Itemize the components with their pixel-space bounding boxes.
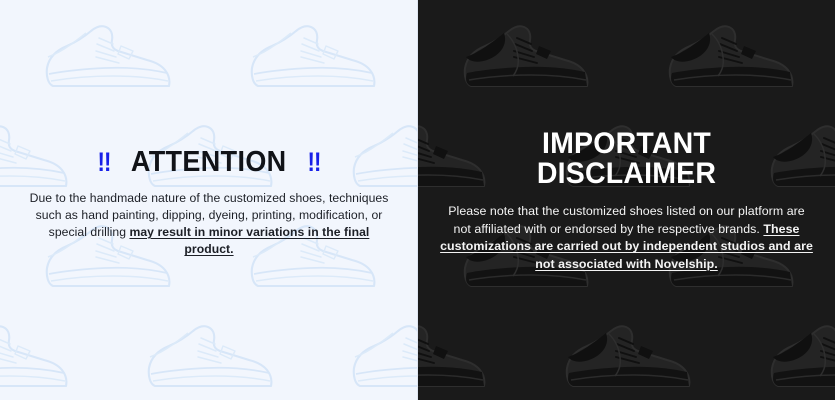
double-exclamation-right-icon: !! (307, 149, 320, 176)
disclaimer-heading-line1: IMPORTANT (449, 129, 803, 160)
disclaimer-panel: IMPORTANT DISCLAIMER Please note that th… (418, 0, 835, 400)
panel-divider (417, 0, 418, 400)
attention-body-emphasis: may result in minor variations in the fi… (129, 225, 369, 256)
attention-title: ATTENTION (131, 148, 287, 177)
disclaimer-heading-line2: DISCLAIMER (449, 159, 803, 190)
double-exclamation-left-icon: !! (98, 149, 111, 176)
attention-panel: !! ATTENTION !! Due to the handmade natu… (0, 0, 418, 400)
attention-heading: !! ATTENTION !! (28, 148, 390, 177)
attention-content: !! ATTENTION !! Due to the handmade natu… (0, 148, 418, 259)
attention-body: Due to the handmade nature of the custom… (28, 190, 390, 259)
disclaimer-body: Please note that the customized shoes li… (440, 203, 813, 273)
disclaimer-content: IMPORTANT DISCLAIMER Please note that th… (418, 129, 835, 274)
disclaimer-banner: !! ATTENTION !! Due to the handmade natu… (0, 0, 835, 400)
disclaimer-body-normal: Please note that the customized shoes li… (448, 204, 805, 236)
disclaimer-heading: IMPORTANT DISCLAIMER (440, 129, 813, 190)
